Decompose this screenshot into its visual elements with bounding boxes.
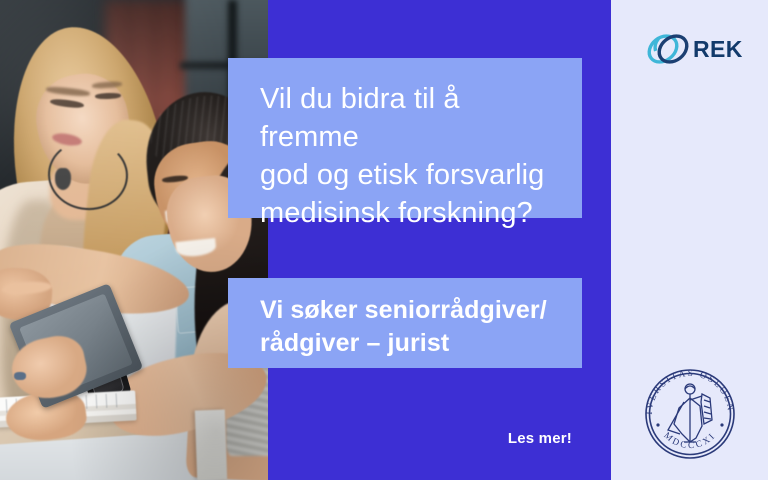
rek-logo[interactable]: REK: [645, 24, 745, 74]
role-callout-text: Vi søker seniorrådgiver/ rådgiver – juri…: [260, 294, 562, 360]
role-callout-box: Vi søker seniorrådgiver/ rådgiver – juri…: [228, 278, 582, 368]
question-callout-text: Vil du bidra til å fremme god og etisk f…: [260, 80, 556, 232]
job-advertisement-banner: Vil du bidra til å fremme god og etisk f…: [0, 0, 768, 480]
rek-wordmark: REK: [693, 36, 743, 63]
uio-apollo-seal-icon[interactable]: UNIVERSITAS OSLOENSIS MDCCCXI: [638, 362, 742, 466]
uio-seal-apollo-figure: [668, 384, 712, 442]
photo-book-upright: [195, 409, 227, 480]
question-callout-box: Vil du bidra til å fremme god og etisk f…: [228, 58, 582, 218]
photo-person1-ring: [14, 372, 26, 380]
photo-person1-pendant: [55, 168, 71, 190]
read-more-link[interactable]: Les mer!: [228, 430, 582, 447]
rek-interlocking-rings-icon: [645, 26, 691, 72]
